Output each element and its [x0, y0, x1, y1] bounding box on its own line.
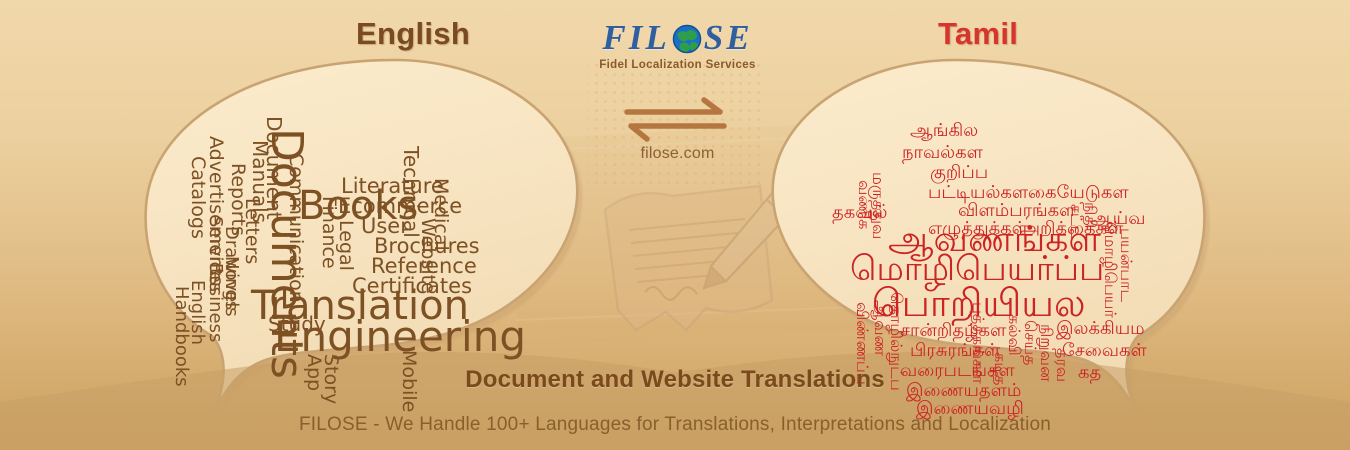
tamil-cloud-word: சான்றிதழ்கள: [900, 322, 1006, 340]
caption-sub: FILOSE - We Handle 100+ Languages for Tr…: [0, 414, 1350, 436]
tamil-cloud-word: ஆங்கில: [910, 122, 978, 140]
word-cloud-english: DocumentsBooksTranslationEngineeringManu…: [146, 58, 586, 358]
filose-url-text[interactable]: filose.com: [585, 145, 770, 163]
english-cloud-word: Certificates: [352, 276, 472, 297]
tamil-cloud-word: கல்வி: [1006, 314, 1022, 356]
logo-wordmark: FIL SE: [585, 20, 770, 55]
english-cloud-word: Communication: [286, 153, 305, 303]
logo-text-part2: SE: [704, 20, 753, 55]
tamil-cloud-word: குறிப்ப: [930, 164, 988, 182]
tamil-cloud-word: சேவைகள்: [1062, 342, 1147, 360]
tamil-cloud-word: நிதி: [1082, 202, 1098, 228]
tamil-cloud-word: இலக்கியம: [1056, 320, 1145, 338]
heading-tamil: Tamil: [938, 16, 1018, 52]
english-cloud-word: Legal: [336, 220, 355, 271]
poster-canvas: English Tamil FIL SE Fidel Localization …: [0, 0, 1350, 450]
english-cloud-word: Study: [268, 314, 326, 334]
logo-text-part1: FIL: [602, 20, 669, 55]
tamil-cloud-word: பயன்பாட: [1118, 228, 1134, 302]
tamil-cloud-word: மொழிபெயர்: [1102, 222, 1118, 318]
heading-english: English: [356, 16, 470, 52]
english-cloud-word: Website: [418, 218, 437, 294]
tamil-cloud-word: வணிக: [856, 180, 872, 229]
english-cloud-word: Business: [206, 263, 224, 342]
tamil-cloud-word: செய்த: [1022, 320, 1038, 365]
tamil-cloud-word: ஆவண: [872, 300, 888, 356]
caption-main: Document and Website Translations: [0, 366, 1350, 394]
filose-logo[interactable]: FIL SE Fidel Localization Services: [585, 20, 770, 71]
word-cloud-tamil: ஆவணங்களமொழிபெயர்ப்பபொறியியலஆங்கிலநாவல்கள…: [810, 52, 1210, 362]
logo-tagline: Fidel Localization Services: [585, 59, 770, 71]
globe-icon: [672, 24, 702, 54]
tamil-cloud-word: எழுத்துக்கள்: [928, 220, 1028, 238]
tamil-cloud-word: நாவல்கள: [902, 144, 983, 162]
english-cloud-word: Letters: [242, 198, 261, 264]
english-cloud-word: Document: [264, 116, 284, 220]
